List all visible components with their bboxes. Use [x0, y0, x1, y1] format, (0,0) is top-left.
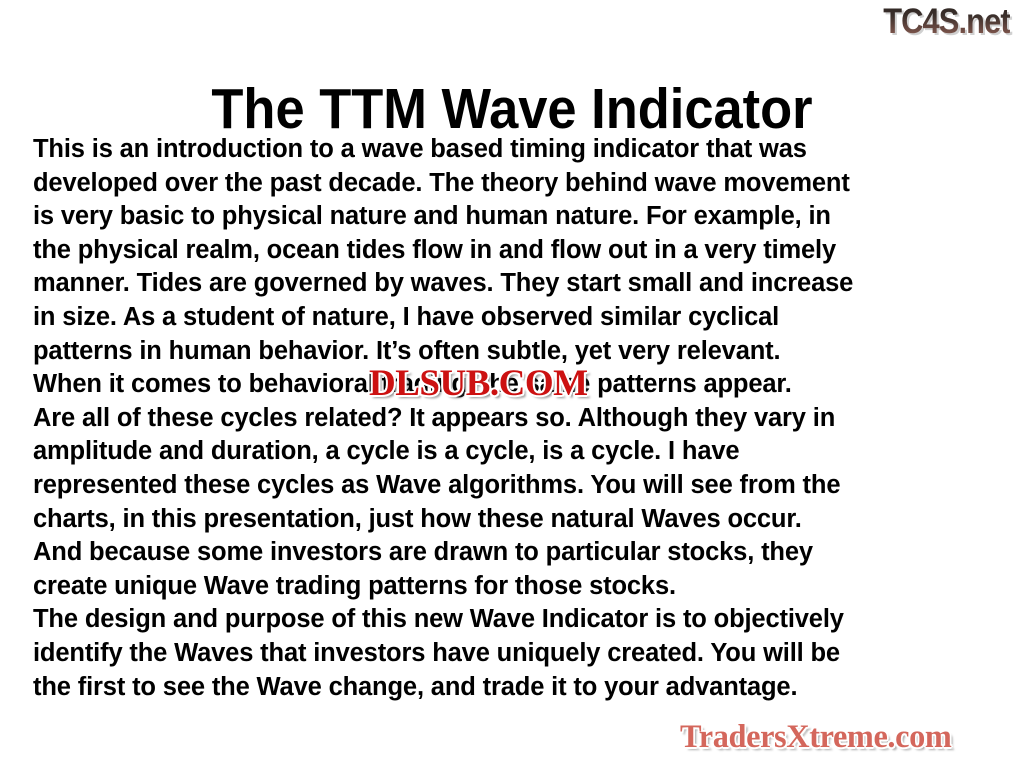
- body-line: The design and purpose of this new Wave …: [33, 603, 995, 637]
- body-line: is very basic to physical nature and hum…: [33, 200, 995, 234]
- body-line: developed over the past decade. The theo…: [33, 167, 995, 201]
- body-line: Are all of these cycles related? It appe…: [33, 402, 995, 436]
- body-line: identify the Waves that investors have u…: [33, 637, 995, 671]
- dlsub-watermark: DLSUB.COM: [369, 365, 588, 402]
- body-line: the first to see the Wave change, and tr…: [33, 671, 995, 705]
- body-line: manner. Tides are governed by waves. The…: [33, 267, 995, 301]
- tradersxtreme-logo: TradersXtreme.com: [680, 719, 951, 756]
- slide-canvas: TC4S.net TC4S.net The TTM Wave Indicator…: [0, 0, 1024, 768]
- body-line: create unique Wave trading patterns for …: [33, 570, 995, 604]
- page-title: The TTM Wave Indicator: [41, 78, 983, 140]
- body-text-block: This is an introduction to a wave based …: [33, 133, 995, 704]
- body-line: represented these cycles as Wave algorit…: [33, 469, 995, 503]
- body-line: the physical realm, ocean tides flow in …: [33, 234, 995, 268]
- body-line: charts, in this presentation, just how t…: [33, 503, 995, 537]
- body-line: This is an introduction to a wave based …: [33, 133, 995, 167]
- body-line: And because some investors are drawn to …: [33, 536, 995, 570]
- body-line: in size. As a student of nature, I have …: [33, 301, 995, 335]
- tc4s-net-logo: TC4S.net: [884, 2, 1010, 42]
- body-line: amplitude and duration, a cycle is a cyc…: [33, 435, 995, 469]
